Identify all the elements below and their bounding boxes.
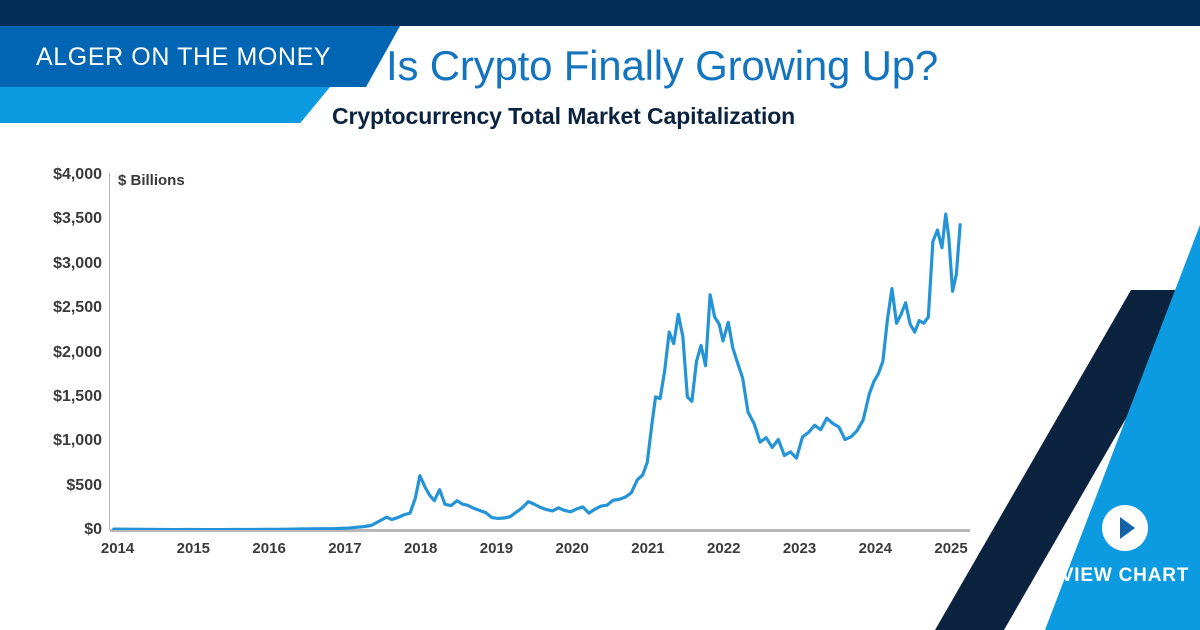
y-tick-label: $3,000 xyxy=(53,255,102,273)
y-tick-label: $3,500 xyxy=(53,210,102,228)
infographic-canvas: ALGER ON THE MONEY Is Crypto Finally Gro… xyxy=(0,0,1200,630)
play-icon[interactable] xyxy=(1102,505,1148,551)
y-tick-label: $1,500 xyxy=(53,388,102,406)
chart-container: $ Billions $0$500$1,000$1,500$2,000$2,50… xyxy=(0,150,1000,570)
x-tick-label: 2018 xyxy=(404,540,437,557)
x-tick-label: 2024 xyxy=(859,540,892,557)
x-tick-label: 2017 xyxy=(328,540,361,557)
y-tick-label: $2,000 xyxy=(53,344,102,362)
y-tick-label: $1,000 xyxy=(53,432,102,450)
x-tick-label: 2022 xyxy=(707,540,740,557)
x-tick-label: 2019 xyxy=(480,540,513,557)
brand-kicker: ALGER ON THE MONEY xyxy=(36,38,366,76)
y-tick-label: $500 xyxy=(66,477,102,495)
y-tick-label: $2,500 xyxy=(53,299,102,317)
y-axis-tick-labels: $0$500$1,000$1,500$2,000$2,500$3,000$3,5… xyxy=(0,150,102,530)
x-tick-label: 2015 xyxy=(177,540,210,557)
chart-subtitle: Cryptocurrency Total Market Capitalizati… xyxy=(332,103,795,130)
x-tick-label: 2020 xyxy=(556,540,589,557)
y-tick-label: $0 xyxy=(84,521,102,539)
header-band-navy xyxy=(0,0,1200,26)
y-tick-label: $4,000 xyxy=(53,166,102,184)
x-tick-label: 2014 xyxy=(101,540,134,557)
crypto-market-cap-line xyxy=(114,214,960,530)
header-band-light-blue xyxy=(0,87,330,123)
x-tick-label: 2025 xyxy=(934,540,967,557)
plot-area xyxy=(110,175,970,530)
x-tick-label: 2016 xyxy=(252,540,285,557)
page-title: Is Crypto Finally Growing Up? xyxy=(386,42,938,90)
x-tick-label: 2023 xyxy=(783,540,816,557)
x-tick-label: 2021 xyxy=(631,540,664,557)
view-chart-button[interactable]: VIEW CHART xyxy=(1060,505,1190,587)
view-chart-label: VIEW CHART xyxy=(1060,565,1190,587)
